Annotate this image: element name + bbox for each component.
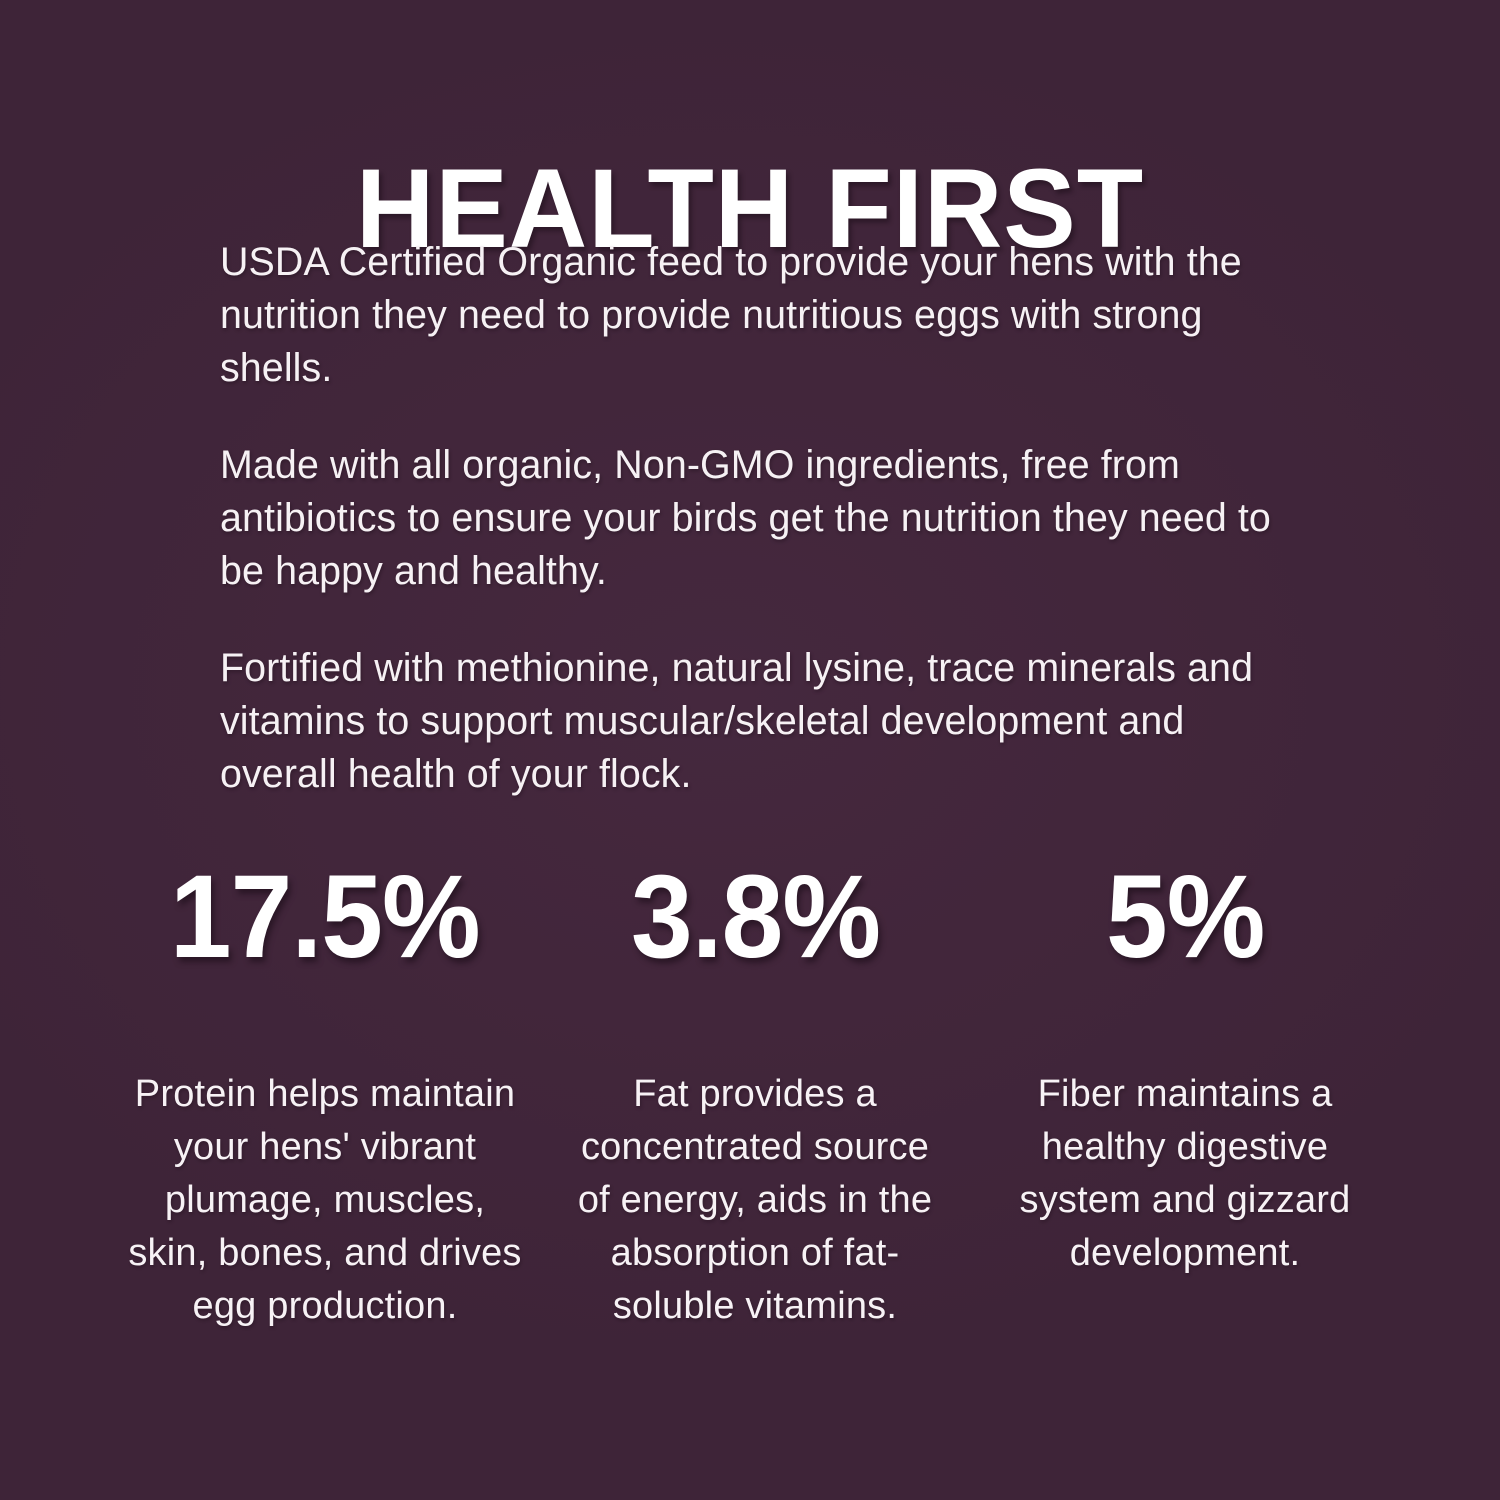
stat-column-fiber: 5% Fiber maintains a healthy digestive s… [970, 858, 1400, 1280]
intro-paragraph-2: Made with all organic, Non-GMO ingredien… [220, 439, 1279, 598]
stat-description-fat: Fat provides a concentrated source of en… [575, 1068, 935, 1333]
intro-paragraph-1: USDA Certified Organic feed to provide y… [220, 236, 1279, 395]
intro-paragraphs: USDA Certified Organic feed to provide y… [220, 236, 1295, 801]
stat-value-fiber: 5% [1106, 858, 1264, 976]
intro-paragraph-3: Fortified with methionine, natural lysin… [220, 642, 1279, 801]
health-first-infographic: HEALTH FIRST USDA Certified Organic feed… [0, 0, 1500, 1500]
stat-column-fat: 3.8% Fat provides a concentrated source … [555, 858, 955, 1333]
nutrition-stats-row: 17.5% Protein helps maintain your hens' … [110, 858, 1400, 1333]
stat-value-protein: 17.5% [170, 858, 480, 976]
stat-description-fiber: Fiber maintains a healthy digestive syst… [985, 1068, 1385, 1280]
stat-column-protein: 17.5% Protein helps maintain your hens' … [110, 858, 540, 1333]
stat-description-protein: Protein helps maintain your hens' vibran… [125, 1068, 525, 1333]
stat-value-fat: 3.8% [630, 858, 879, 976]
